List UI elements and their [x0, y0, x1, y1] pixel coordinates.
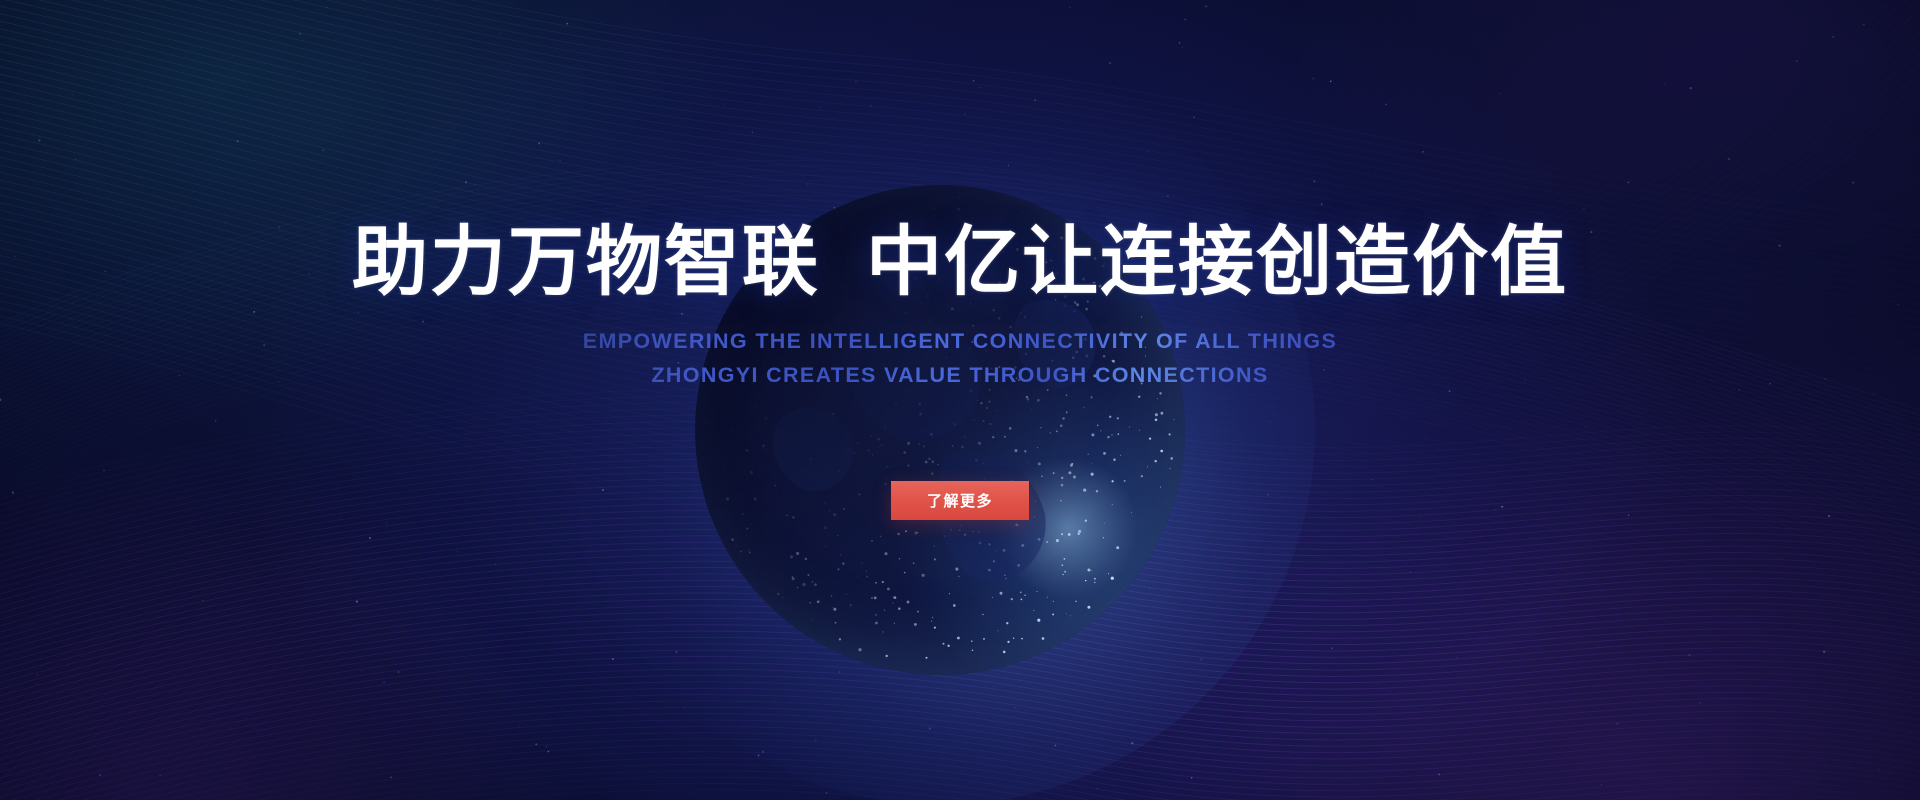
hero-subtitle: EMPOWERING THE INTELLIGENT CONNECTIVITY … — [583, 324, 1337, 394]
hero-banner: 助力万物智联 中亿让连接创造价值 EMPOWERING THE INTELLIG… — [0, 0, 1920, 800]
hero-content: 助力万物智联 中亿让连接创造价值 EMPOWERING THE INTELLIG… — [0, 0, 1920, 800]
hero-subtitle-line-1: EMPOWERING THE INTELLIGENT CONNECTIVITY … — [583, 324, 1337, 359]
learn-more-button[interactable]: 了解更多 — [891, 481, 1029, 520]
page-title: 助力万物智联 中亿让连接创造价值 — [352, 224, 1568, 302]
hero-subtitle-line-2: ZHONGYI CREATES VALUE THROUGH CONNECTION… — [583, 358, 1337, 393]
